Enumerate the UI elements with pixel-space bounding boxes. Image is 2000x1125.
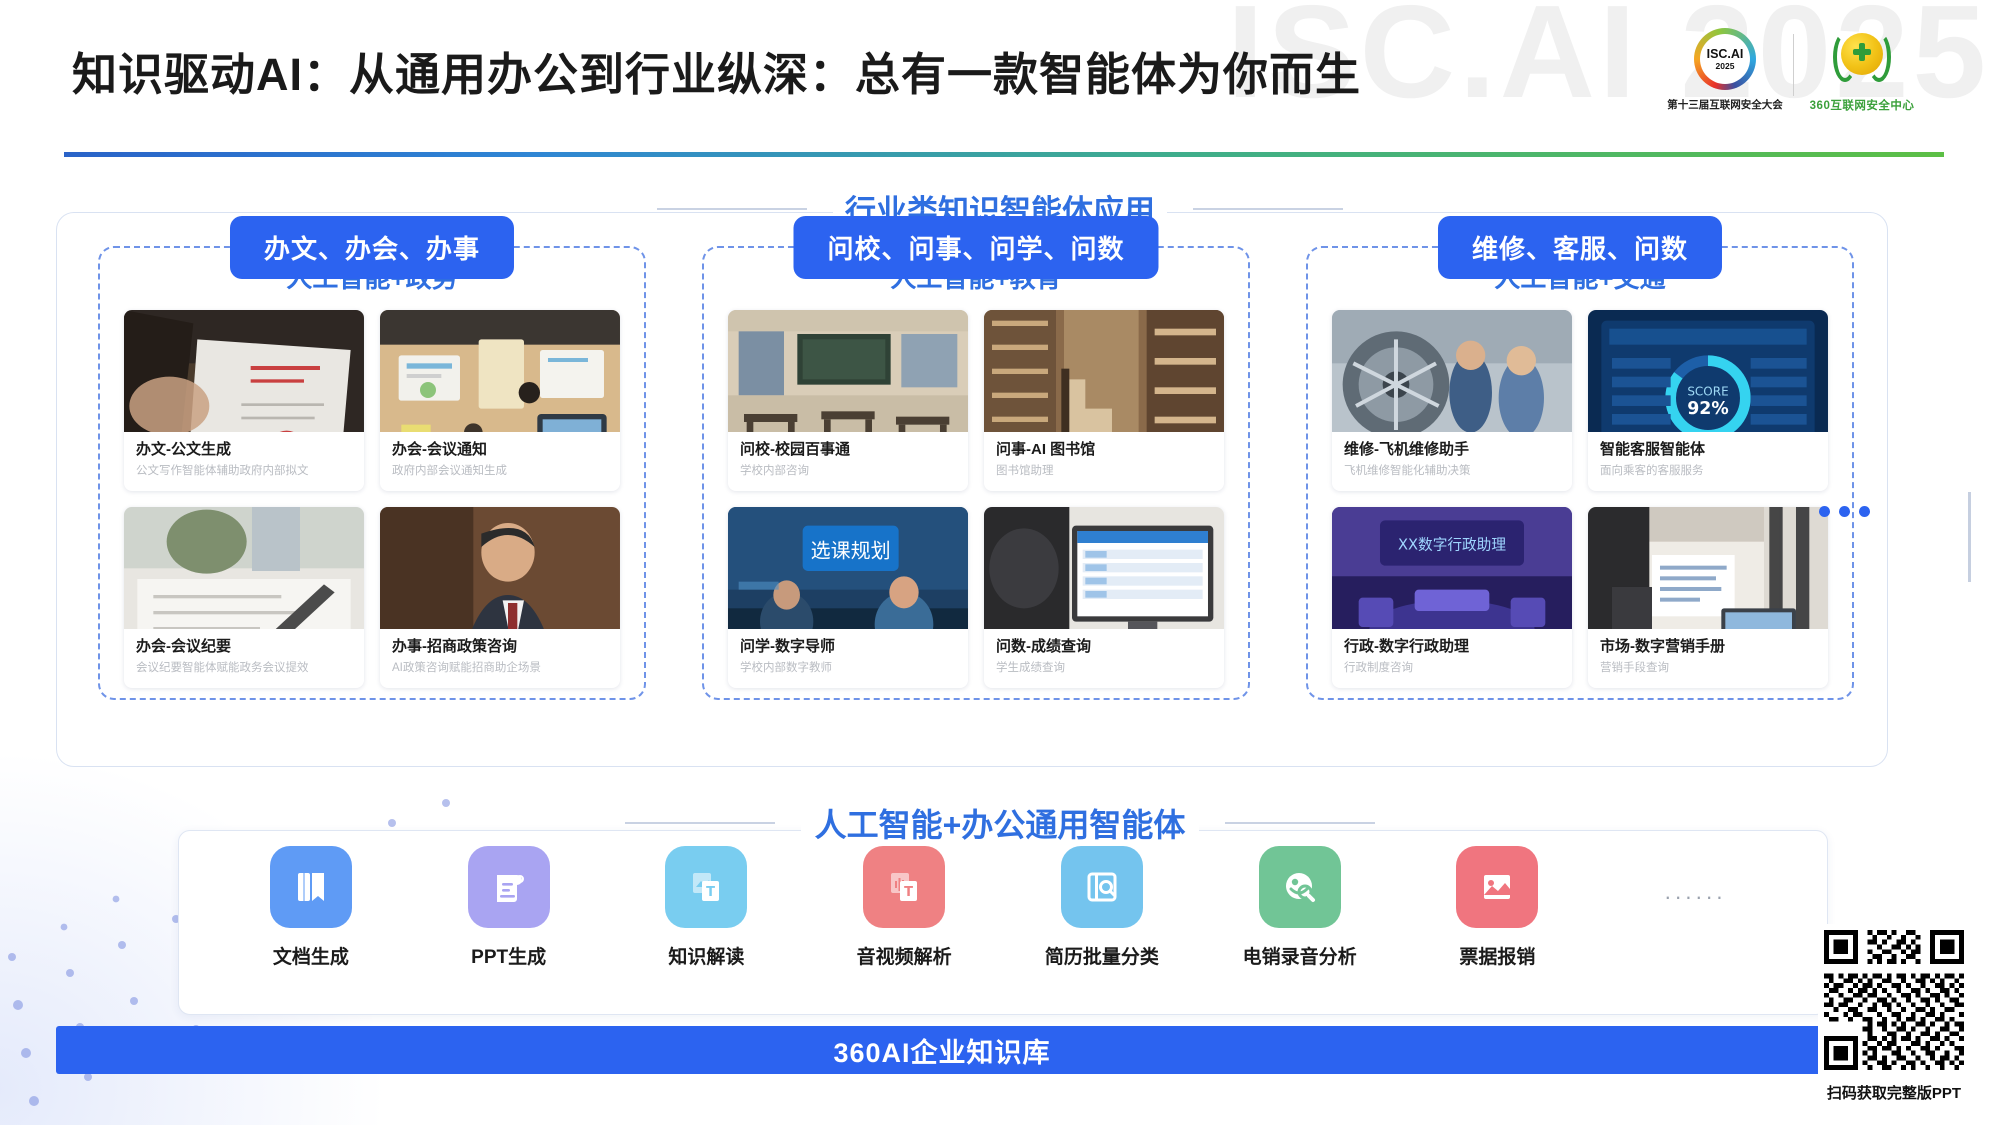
office-heading-text: 人工智能+办公通用智能体 [801,800,1200,846]
card-description: 会议纪要智能体赋能政务会议提效 [136,662,352,676]
heading-rule-left [657,208,807,210]
qr-block: 扫码获取完整版PPT [1810,924,1978,1103]
office-agent-label: PPT生成 [471,942,546,969]
office-heading-rule-left [625,822,775,824]
app-card[interactable]: 办会-会议通知 政府内部会议通知生成 [380,310,620,491]
office-agent-item-media[interactable]: T 音视频解析 [805,846,1003,969]
app-card[interactable]: 市场-数字营销手册 营销手段查询 [1588,507,1828,688]
card-thumbnail-desk-charts-laptop [1588,507,1828,629]
indicator-dot [1819,506,1830,517]
office-agent-item-telesales[interactable]: 电销录音分析 [1201,846,1399,969]
office-section-heading: 人工智能+办公通用智能体 [0,800,2000,846]
column-pill-badge[interactable]: 问校、问事、问学、问数 [793,216,1158,279]
card-thumbnail-desktop-monitor-table [984,507,1224,629]
logo-separator [1793,34,1794,96]
office-agent-label: 电销录音分析 [1243,942,1357,969]
card-description: 行政制度咨询 [1344,662,1560,676]
office-agent-label: 音视频解析 [857,942,952,969]
ellipsis-icon: ······ [1664,884,1726,910]
card-description: 学校内部咨询 [740,465,956,479]
logo-group: ISC.AI 2025 第十三届互联网安全大会 360互联网安全中心 [1673,28,1914,113]
office-agent-label: 知识解读 [668,942,744,969]
qr-caption: 扫码获取完整版PPT [1810,1082,1978,1103]
security-center-caption: 360互联网安全中心 [1810,97,1915,113]
svg-text:T: T [706,885,715,900]
card-title: 办会-会议纪要 [136,638,352,656]
card-title: 办文-公文生成 [136,441,352,459]
card-title: 市场-数字营销手册 [1600,638,1816,656]
office-agent-label: 简历批量分类 [1045,942,1159,969]
svg-text:SCORE: SCORE [1687,384,1728,398]
app-card[interactable]: XX数字行政助理 行政-数字 [1332,507,1572,688]
indicator-dot [1839,506,1850,517]
card-title: 问事-AI 图书馆 [996,441,1212,459]
card-title: 行政-数字行政助理 [1344,638,1560,656]
industry-columns: 办文、办会、办事 人工智能+政务 [56,212,1888,767]
column-card-grid: 问校-校园百事通 学校内部咨询 [728,310,1224,688]
isc-logo-caption: 第十三届互联网安全大会 [1667,97,1783,112]
card-thumbnail-course-planning-screen: 选课规划 [728,507,968,629]
card-description: 图书馆助理 [996,465,1212,479]
book-icon [270,846,352,928]
more-items-indicator[interactable] [1819,506,1870,517]
card-thumbnail-businessman-writing [380,507,620,629]
card-thumbnail-meeting-desk [380,310,620,432]
app-card[interactable]: 办事-招商政策咨询 AI政策咨询赋能招商助企场景 [380,507,620,688]
office-agent-item-resume[interactable]: 简历批量分类 [1003,846,1201,969]
page-title: 知识驱动AI：从通用办公到行业纵深：总有一款智能体为你而生 [72,38,1361,103]
audio-to-text-icon: T [863,846,945,928]
card-title: 办会-会议通知 [392,441,608,459]
card-description: 政府内部会议通知生成 [392,465,608,479]
office-agent-item-document[interactable]: 文档生成 [212,846,410,969]
card-description: 营销手段查询 [1600,662,1816,676]
card-thumbnail-handwriting-notes [124,507,364,629]
security-center-logo: 360互联网安全中心 [1810,28,1914,113]
svg-text:XX数字行政助理: XX数字行政助理 [1398,536,1506,553]
card-title: 维修-飞机维修助手 [1344,441,1560,459]
app-card[interactable]: 维修-飞机维修助手 飞机维修智能化辅助决策 [1332,310,1572,491]
indicator-dot [1859,506,1870,517]
office-agent-item-knowledge[interactable]: T 知识解读 [608,846,806,969]
card-description: 飞机维修智能化辅助决策 [1344,465,1560,479]
scroll-document-icon [468,846,550,928]
app-card[interactable]: 问事-AI 图书馆 图书馆助理 [984,310,1224,491]
card-thumbnail-digital-office-room: XX数字行政助理 [1332,507,1572,629]
office-agent-item-ppt[interactable]: PPT生成 [410,846,608,969]
card-title: 智能客服智能体 [1600,441,1816,459]
svg-text:选课规划: 选课规划 [811,538,891,562]
header-divider [64,152,1944,157]
resume-search-icon [1061,846,1143,928]
app-card[interactable]: 问数-成绩查询 学生成绩查询 [984,507,1224,688]
receipt-image-icon [1456,846,1538,928]
card-thumbnail-jet-engine-technicians [1332,310,1572,432]
column-pill-badge[interactable]: 维修、客服、问数 [1438,216,1722,279]
industry-column-transport: 维修、客服、问数 人工智能+交通 [1290,212,1870,767]
heading-rule-right [1193,208,1343,210]
app-card[interactable]: 选课规划 问学-数字导师 学校内部数字教师 [728,507,968,688]
isc-mark-line2: 2025 [1716,62,1735,71]
security-emblem-icon [1831,28,1893,90]
card-thumbnail-classroom [728,310,968,432]
column-card-grid: 办文-公文生成 公文写作智能体辅助政府内部拟文 [124,310,620,688]
card-description: 面向乘客的客服服务 [1600,465,1816,479]
app-card[interactable]: 办文-公文生成 公文写作智能体辅助政府内部拟文 [124,310,364,491]
industry-column-education: 问校、问事、问学、问数 人工智能+教育 [686,212,1266,767]
qr-code[interactable] [1818,924,1970,1076]
card-description: 学校内部数字教师 [740,662,956,676]
column-card-grid: 维修-飞机维修助手 飞机维修智能化辅助决策 SCORE 92% [1332,310,1828,688]
app-card[interactable]: SCORE 92% [1588,310,1828,491]
office-agent-label: 文档生成 [273,942,349,969]
app-card[interactable]: 办会-会议纪要 会议纪要智能体赋能政务会议提效 [124,507,364,688]
voice-search-icon [1259,846,1341,928]
svg-text:T: T [904,885,913,900]
card-title: 问学-数字导师 [740,638,956,656]
card-title: 问数-成绩查询 [996,638,1212,656]
isc-badge-icon: ISC.AI 2025 [1694,28,1756,90]
industry-column-government: 办文、办会、办事 人工智能+政务 [82,212,662,767]
card-thumbnail-document-signing [124,310,364,432]
card-title: 办事-招商政策咨询 [392,638,608,656]
right-scroll-rule [1968,492,1971,582]
knowledge-base-label: 360AI企业知识库 [833,1031,1050,1070]
card-description: 学生成绩查询 [996,662,1212,676]
card-description: AI政策咨询赋能招商助企场景 [392,662,608,676]
app-card[interactable]: 问校-校园百事通 学校内部咨询 [728,310,968,491]
svg-text:92%: 92% [1687,399,1728,419]
document-text-icon: T [665,846,747,928]
card-thumbnail-dashboard-gauge: SCORE 92% [1588,310,1828,432]
office-agent-list: 文档生成 PPT生成 T [178,846,1828,1006]
office-agent-item-receipt[interactable]: 票据报销 [1399,846,1597,969]
office-heading-rule-right [1225,822,1375,824]
card-title: 问校-校园百事通 [740,441,956,459]
isc-logo: ISC.AI 2025 第十三届互联网安全大会 [1673,28,1777,112]
column-pill-badge[interactable]: 办文、办会、办事 [230,216,514,279]
isc-mark-line1: ISC.AI [1707,48,1744,61]
knowledge-base-bar: 360AI企业知识库 [56,1026,1828,1074]
office-agent-label: 票据报销 [1459,942,1535,969]
office-agent-item-more: ······ [1596,846,1794,910]
card-thumbnail-library-stairs [984,310,1224,432]
card-description: 公文写作智能体辅助政府内部拟文 [136,465,352,479]
slide-root: ISC.AI 2025 知识驱动AI：从通用办公到行业纵深：总有一款智能体为你而… [0,0,2000,1125]
